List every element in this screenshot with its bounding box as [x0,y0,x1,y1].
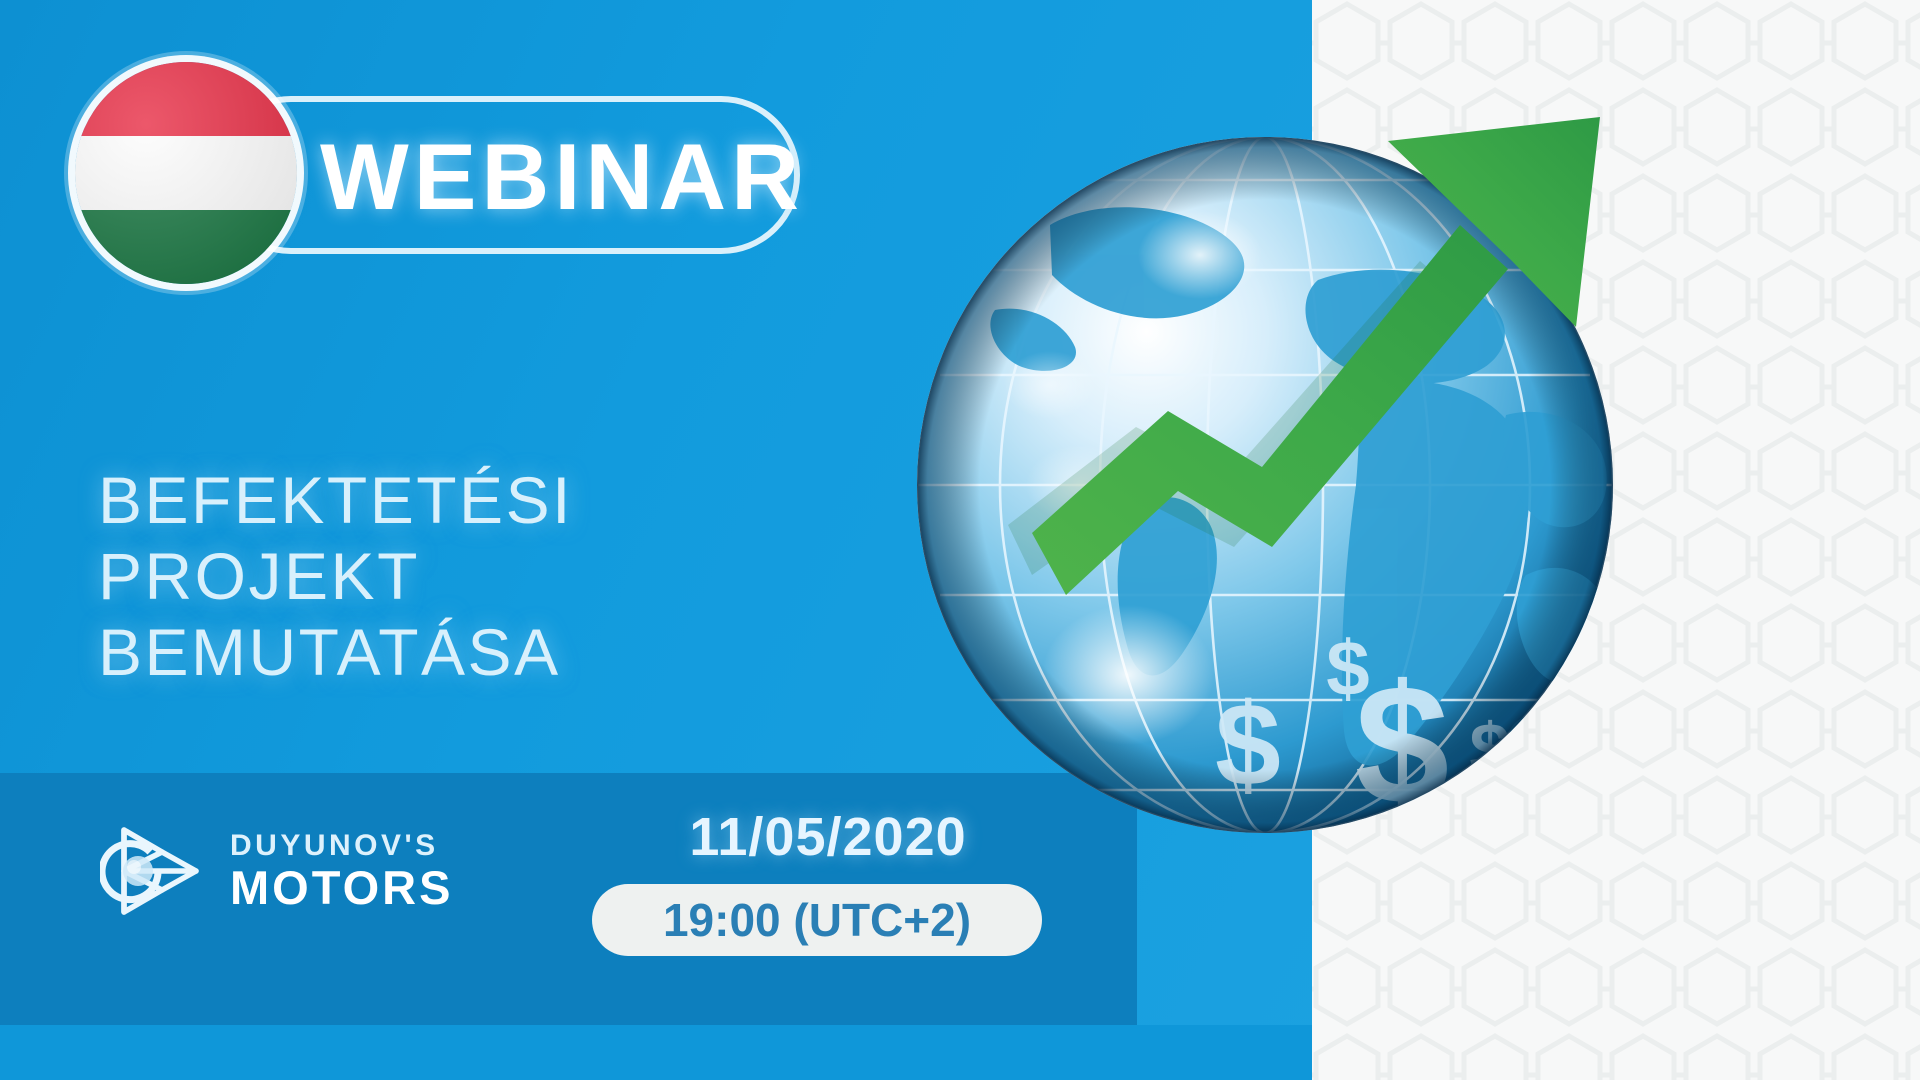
brand-wordmark: DUYUNOV'S MOTORS [230,829,453,913]
footer-band-lower [0,1025,1312,1080]
banner-root: WEBINAR BEFEKTETÉSI PROJEKT BEMUTATÁSA D… [0,0,1920,1080]
headline-line-1: BEFEKTETÉSI [98,462,573,538]
headline-line-3: BEMUTATÁSA [98,614,573,690]
webinar-title: WEBINAR [352,118,772,236]
duyunov-motors-logo-icon [100,812,208,930]
globe-artwork: $ $ $ $ [900,55,1760,955]
flag-shading [75,62,297,284]
headline-line-2: PROJEKT [98,538,573,614]
brand-logo: DUYUNOV'S MOTORS [100,812,453,930]
brand-name-top: DUYUNOV'S [230,829,453,863]
flag-clip [75,62,297,284]
brand-name-bottom: MOTORS [230,863,453,913]
hungary-flag-badge [75,62,297,284]
headline-block: BEFEKTETÉSI PROJEKT BEMUTATÁSA [98,462,573,690]
